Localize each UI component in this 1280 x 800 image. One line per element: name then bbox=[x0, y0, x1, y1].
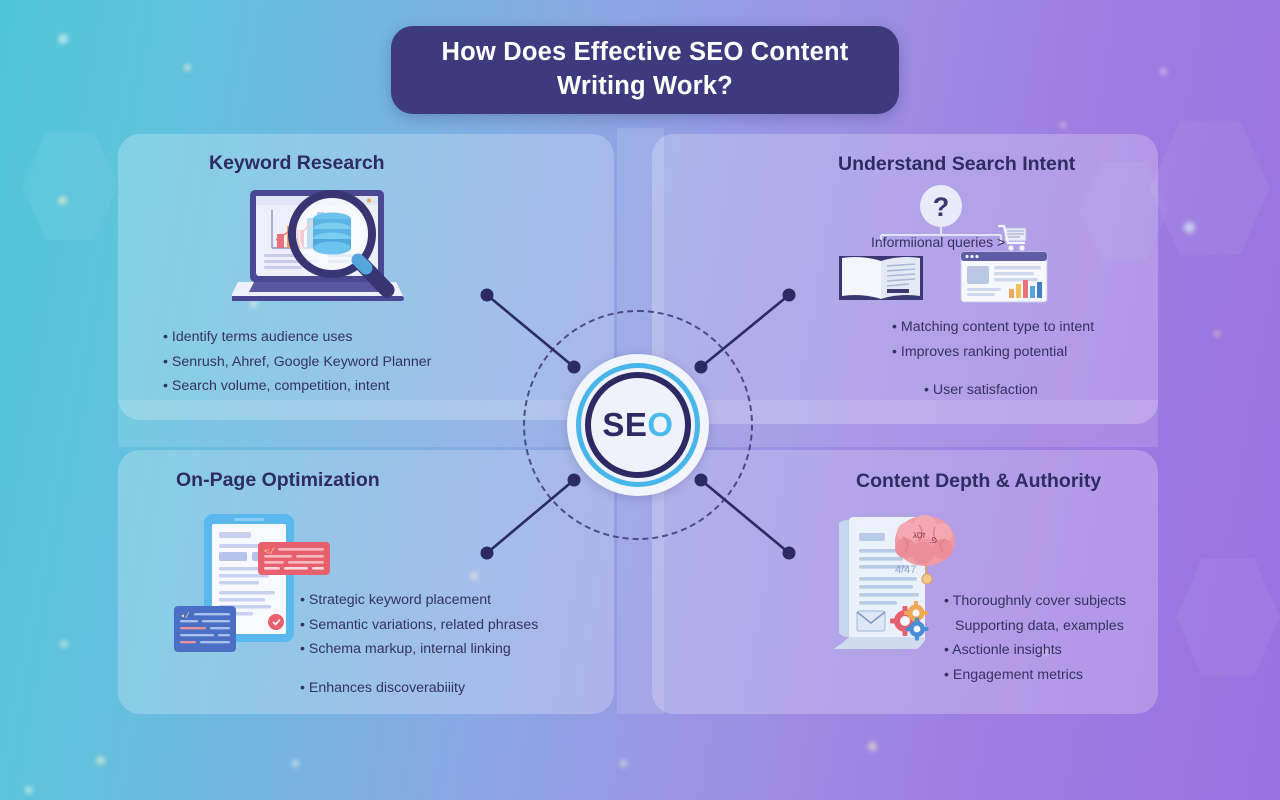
list-item: • Search volume, competition, intent bbox=[163, 374, 431, 399]
hub-label-se: SE bbox=[602, 406, 647, 443]
intent-caption: Informiional queries > bbox=[871, 234, 1005, 250]
list-item: • Senrush, Ahref, Google Keyword Planner bbox=[163, 350, 431, 375]
panel-title-understand-search-intent: Understand Search Intent bbox=[838, 153, 1075, 176]
question-book-browser-cart-icon: ? Informiional queries > bbox=[833, 184, 1058, 304]
seo-hub-badge: SEO bbox=[567, 354, 709, 496]
bullets-keyword-research: • Identify terms audience uses • Senrush… bbox=[163, 325, 431, 399]
list-item: • Identify terms audience uses bbox=[163, 325, 431, 350]
list-item: • Asctionle insights bbox=[944, 638, 1126, 663]
hub-label: SEO bbox=[602, 406, 673, 444]
list-item: • Thoroughnly cover subjects bbox=[944, 589, 1126, 614]
panel-title-keyword-research: Keyword Research bbox=[209, 152, 385, 175]
page-title: How Does Effective SEO ContentWriting Wo… bbox=[416, 36, 875, 104]
list-item: • Matching content type to intent bbox=[892, 315, 1094, 340]
svg-text:4/47: 4/47 bbox=[895, 564, 916, 576]
bullets-understand-search-intent: • Matching content type to intent • Impr… bbox=[892, 315, 1094, 403]
svg-text:.פ‎: .פ‎ bbox=[929, 535, 937, 545]
svg-text:◂/: ◂/ bbox=[180, 612, 190, 621]
list-item: • Schema markup, internal linking bbox=[300, 637, 538, 662]
hub-disc: SEO bbox=[591, 378, 685, 472]
list-item: • User satisfaction bbox=[924, 378, 1094, 403]
svg-text:זסג: זסג bbox=[913, 530, 926, 540]
list-item: • Strategic keyword placement bbox=[300, 588, 538, 613]
laptop-magnifier-database-icon bbox=[232, 186, 412, 311]
list-item: • Semantic variations, related phrases bbox=[300, 613, 538, 638]
panel-title-on-page-optimization: On-Page Optimization bbox=[176, 469, 380, 492]
bullets-content-depth-authority: • Thoroughnly cover subjects Supporting … bbox=[944, 589, 1126, 687]
panel-title-content-depth-authority: Content Depth & Authority bbox=[856, 470, 1101, 493]
bullets-on-page-optimization: • Strategic keyword placement • Semantic… bbox=[300, 588, 538, 700]
title-banner: How Does Effective SEO ContentWriting Wo… bbox=[391, 26, 899, 114]
list-item: Supporting data, examples bbox=[944, 614, 1126, 639]
hub-label-o: O bbox=[647, 406, 673, 443]
svg-text:?: ? bbox=[933, 192, 950, 222]
list-item: • Enhances discoverabiiity bbox=[300, 676, 538, 701]
scroll-brain-gears-icon: 4/47 bbox=[827, 511, 959, 661]
list-item: • Improves ranking potential bbox=[892, 340, 1094, 365]
list-item: • Engagement metrics bbox=[944, 663, 1126, 688]
tablet-code-cards-icon: </ ◂/ bbox=[172, 506, 332, 661]
